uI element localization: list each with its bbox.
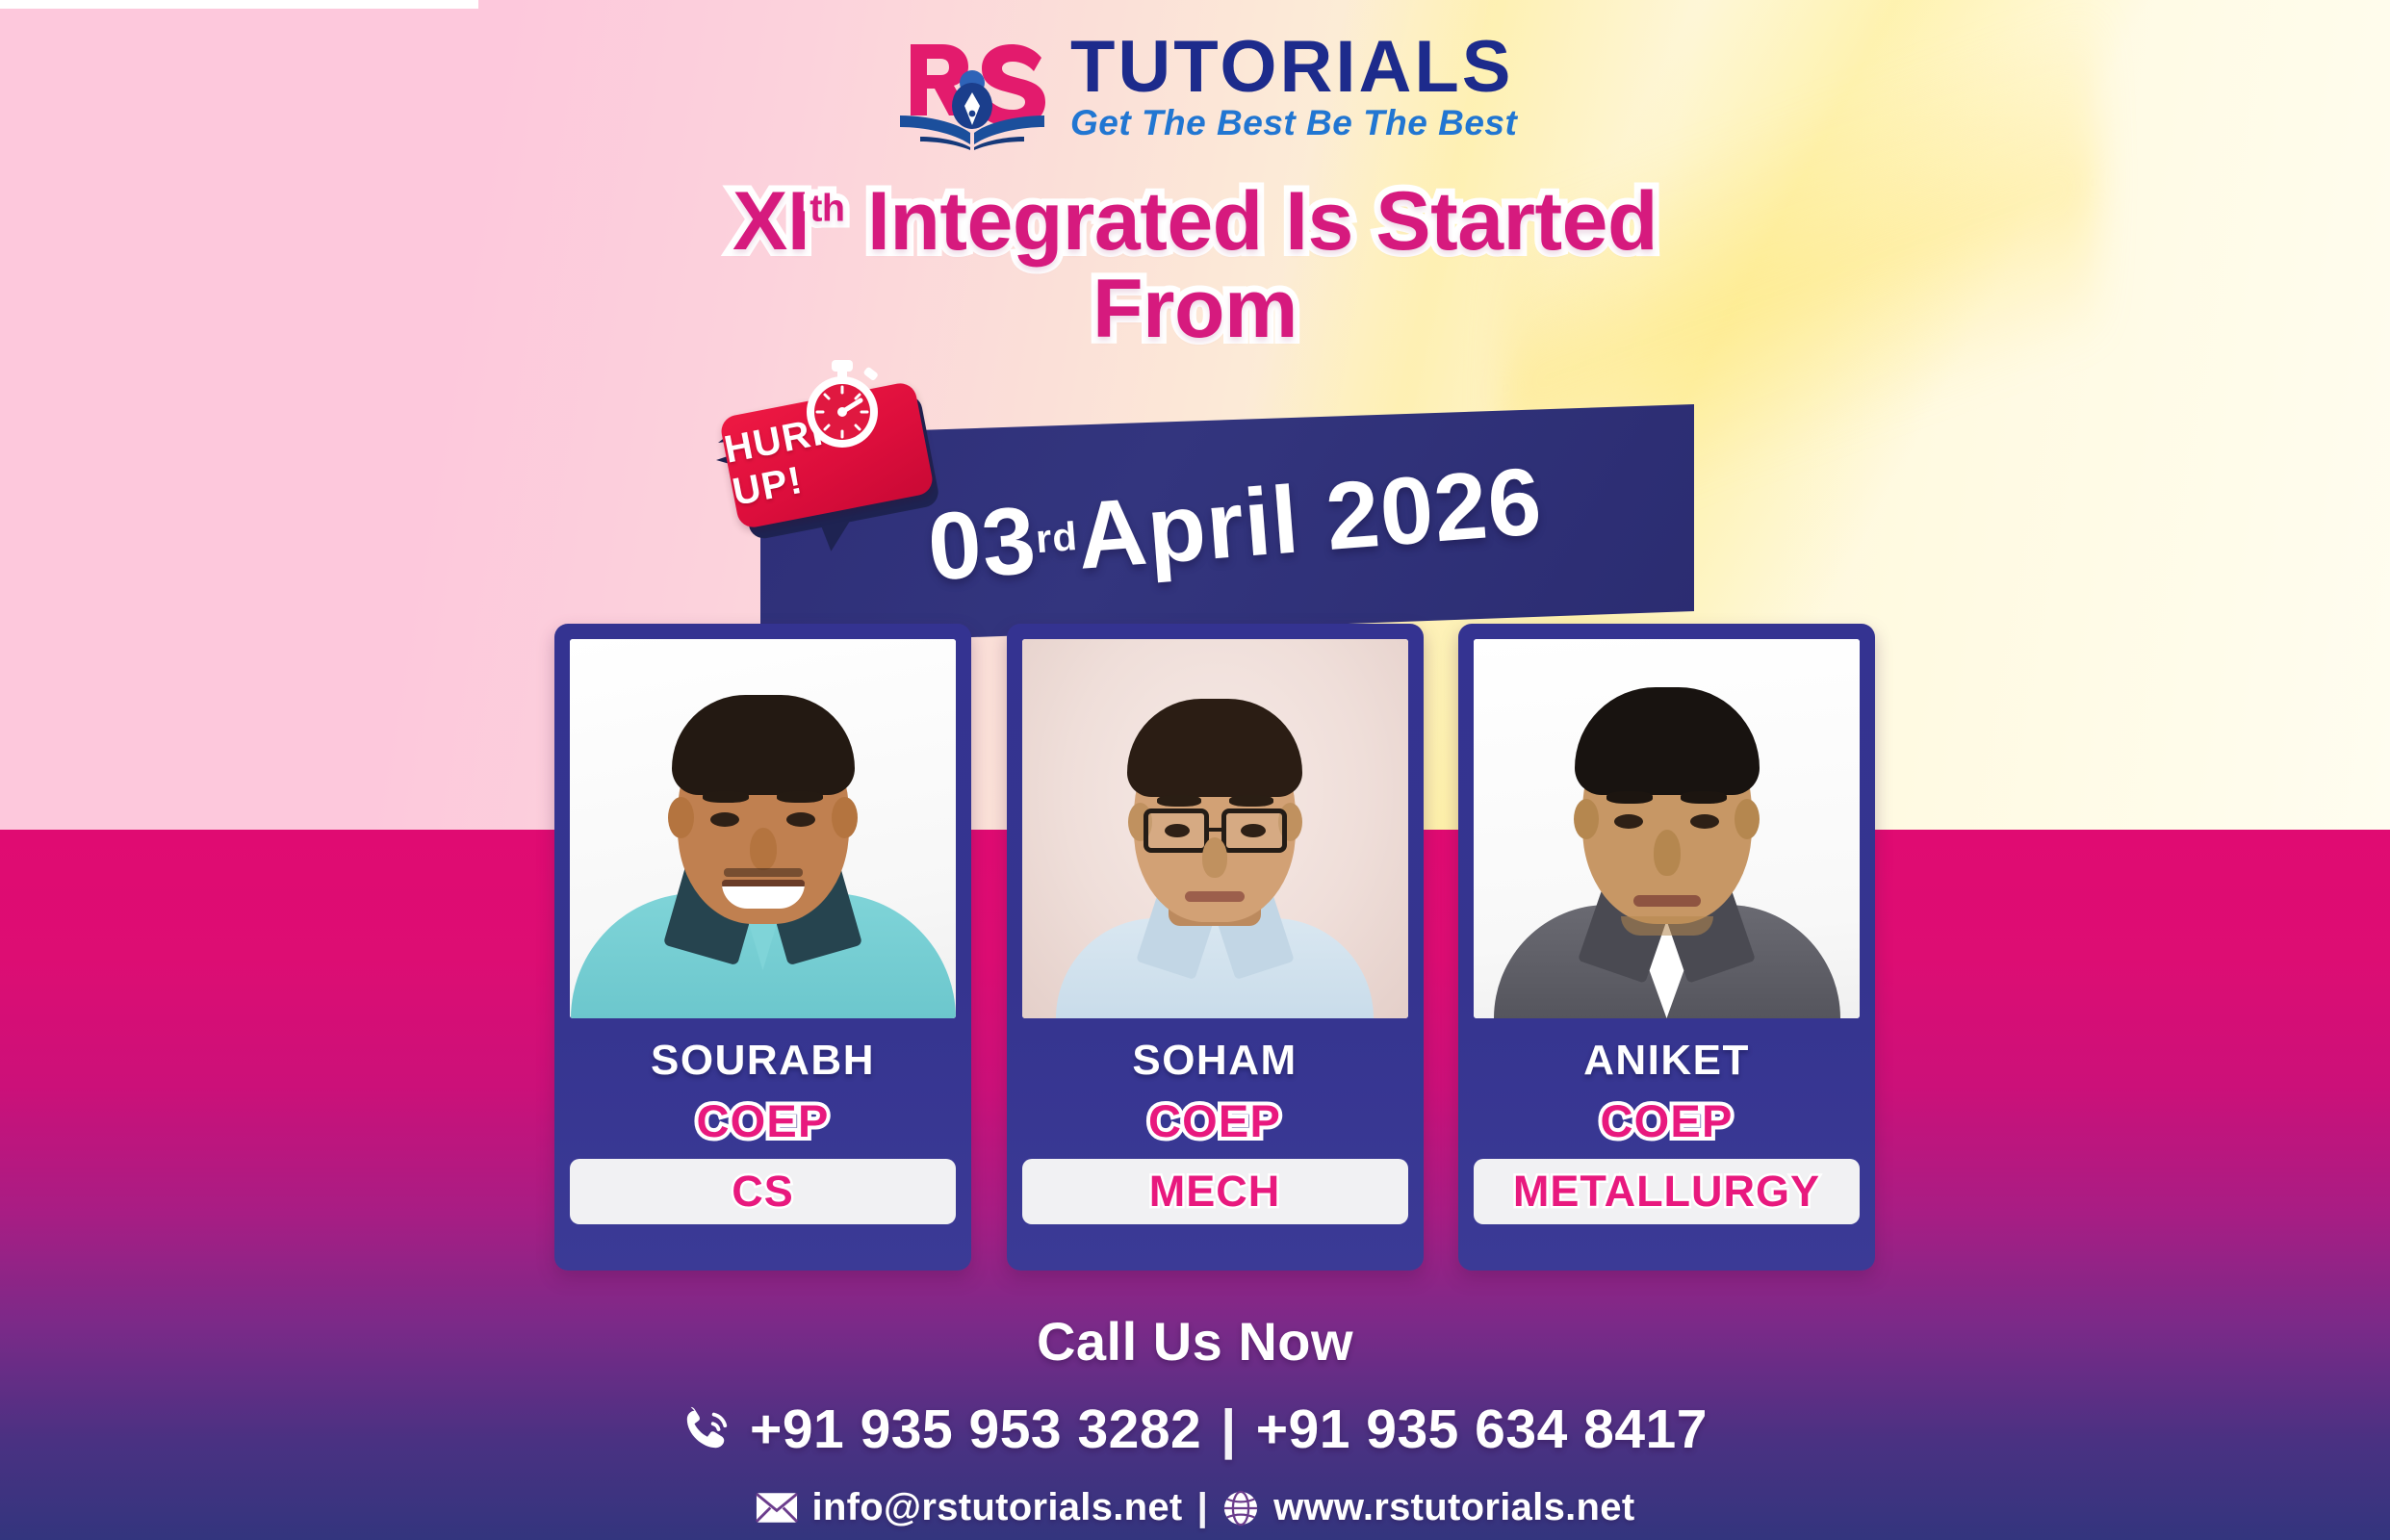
background-white-corner-strip xyxy=(0,0,478,9)
student-photo xyxy=(1474,639,1860,1018)
student-branch-pill: METALLURGY xyxy=(1474,1159,1860,1224)
student-college: COEP xyxy=(1148,1098,1281,1143)
student-college: COEP xyxy=(1601,1098,1734,1143)
stopwatch-icon xyxy=(797,358,887,450)
date-day-suffix: rd xyxy=(1034,513,1079,562)
student-cards-row: SOURABH COEP CS xyxy=(554,624,1875,1270)
headline-ordinal-suffix: th xyxy=(810,187,844,229)
envelope-icon xyxy=(756,1492,798,1524)
aniket-portrait xyxy=(1474,639,1860,1018)
globe-icon xyxy=(1222,1490,1259,1527)
phone-number-1[interactable]: +91 935 953 3282 xyxy=(750,1398,1201,1461)
sourabh-portrait xyxy=(570,639,956,1018)
headline-line-1: XIth Integrated Is Started xyxy=(560,178,1831,266)
student-branch: CS xyxy=(732,1167,794,1217)
date-month-year: April 2026 xyxy=(1073,446,1546,591)
headline-rest: Integrated Is Started xyxy=(845,175,1658,268)
headline-grade: XI xyxy=(732,175,810,268)
web-separator: | xyxy=(1197,1486,1209,1529)
student-branch-pill: MECH xyxy=(1022,1159,1408,1224)
brand-title: TUTORIALS xyxy=(1070,33,1517,101)
student-name: SOURABH xyxy=(651,1039,875,1082)
student-branch: MECH xyxy=(1149,1167,1281,1217)
phone-icon xyxy=(682,1405,731,1453)
phone-numbers-row: +91 935 953 3282 | +91 935 634 8417 xyxy=(0,1398,2390,1461)
headline: XIth Integrated Is Started From xyxy=(560,178,1831,353)
student-card[interactable]: SOHAM COEP MECH xyxy=(1007,624,1424,1270)
email-website-row: info@rstutorials.net | www.rstutorials.n… xyxy=(0,1486,2390,1529)
student-name: ANIKET xyxy=(1583,1039,1750,1082)
student-college: COEP xyxy=(697,1098,830,1143)
phone-separator: | xyxy=(1221,1398,1236,1461)
contact-footer: Call Us Now +91 935 953 3282 | +91 935 6… xyxy=(0,1315,2390,1529)
student-branch: METALLURGY xyxy=(1513,1167,1820,1217)
brand-logo-text: TUTORIALS Get The Best Be The Best xyxy=(1070,29,1517,144)
student-card[interactable]: SOURABH COEP CS xyxy=(554,624,971,1270)
brand-tagline: Get The Best Be The Best xyxy=(1070,103,1517,144)
website-url[interactable]: www.rstutorials.net xyxy=(1273,1486,1634,1529)
hurry-up-badge: HURRY UP! xyxy=(714,364,964,571)
phone-number-2[interactable]: +91 935 634 8417 xyxy=(1256,1398,1708,1461)
student-name: SOHAM xyxy=(1132,1039,1297,1082)
student-card[interactable]: ANIKET COEP METALLURGY xyxy=(1458,624,1875,1270)
brand-logo: TUTORIALS Get The Best Be The Best xyxy=(895,15,1588,158)
student-branch-pill: CS xyxy=(570,1159,956,1224)
student-photo xyxy=(570,639,956,1018)
rs-logo-mark-icon xyxy=(895,23,1049,150)
student-photo xyxy=(1022,639,1408,1018)
email-address[interactable]: info@rstutorials.net xyxy=(812,1486,1183,1529)
soham-portrait xyxy=(1022,639,1408,1018)
call-us-heading: Call Us Now xyxy=(0,1315,2390,1369)
headline-line-2: From xyxy=(560,266,1831,353)
